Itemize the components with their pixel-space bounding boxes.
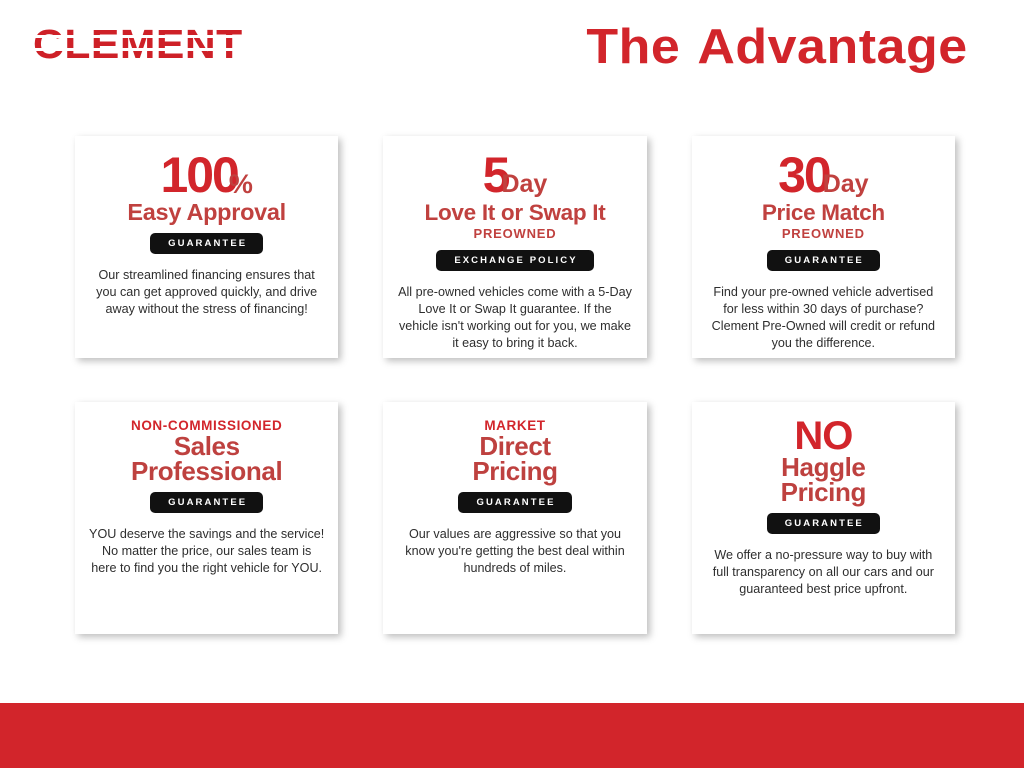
advantage-card-grid: 100 % Easy Approval GUARANTEE Our stream…	[75, 136, 955, 634]
card-body-text: YOU deserve the savings and the service!…	[89, 526, 324, 577]
page-title: TheAdvantage	[587, 17, 968, 77]
headline-line-2: Pricing	[706, 480, 941, 505]
headline-number-row: 5 Day	[397, 152, 632, 198]
card-easy-approval[interactable]: 100 % Easy Approval GUARANTEE Our stream…	[75, 136, 338, 358]
logo-slice-lower	[33, 48, 269, 51]
headline-line-2: Pricing	[397, 459, 632, 484]
card-body-text: Find your pre-owned vehicle advertised f…	[706, 284, 941, 352]
card-body-text: Our streamlined financing ensures that y…	[89, 267, 324, 318]
headline-number-row: 100 %	[89, 152, 324, 198]
headline-suffix: %	[229, 172, 253, 198]
headline-subtitle: Love It or Swap It	[397, 200, 632, 225]
headline-number-row: 30 Day	[706, 152, 941, 198]
card-headline: NO Haggle Pricing	[706, 418, 941, 505]
page-title-word-the: The	[587, 20, 681, 74]
card-row-bottom: NON-COMMISSIONED Sales Professional GUAR…	[75, 402, 955, 634]
card-love-it-or-swap-it[interactable]: 5 Day Love It or Swap It PREOWNED EXCHAN…	[383, 136, 646, 358]
headline-eyebrow-big: NO	[706, 418, 941, 455]
preowned-label: PREOWNED	[397, 226, 632, 242]
page-title-word-advantage: Advantage	[698, 20, 968, 74]
clement-logo-text: CLEMENT	[33, 24, 278, 64]
guarantee-badge: GUARANTEE	[767, 513, 880, 534]
headline-subtitle: Easy Approval	[89, 200, 324, 225]
guarantee-badge: GUARANTEE	[150, 492, 263, 513]
card-body-text: Our values are aggressive so that you kn…	[397, 526, 632, 577]
headline-suffix: Day	[501, 172, 547, 198]
page-header: CLEMENT TheAdvantage	[0, 0, 1024, 96]
headline-suffix: Day	[823, 172, 869, 198]
headline-number: 100	[160, 152, 237, 198]
guarantee-badge: GUARANTEE	[458, 492, 571, 513]
card-direct-pricing[interactable]: MARKET Direct Pricing GUARANTEE Our valu…	[383, 402, 646, 634]
card-headline: NON-COMMISSIONED Sales Professional	[89, 418, 324, 484]
card-body-text: We offer a no-pressure way to buy with f…	[706, 547, 941, 598]
card-headline: MARKET Direct Pricing	[397, 418, 632, 484]
card-row-top: 100 % Easy Approval GUARANTEE Our stream…	[75, 136, 955, 358]
card-no-haggle-pricing[interactable]: NO Haggle Pricing GUARANTEE We offer a n…	[692, 402, 955, 634]
logo-slice-upper	[33, 35, 269, 38]
clement-logo: CLEMENT	[33, 24, 269, 64]
footer-accent-bar	[0, 703, 1024, 768]
card-sales-professional[interactable]: NON-COMMISSIONED Sales Professional GUAR…	[75, 402, 338, 634]
exchange-policy-badge: EXCHANGE POLICY	[436, 250, 593, 271]
card-headline: 30 Day Price Match PREOWNED	[706, 152, 941, 242]
preowned-label: PREOWNED	[706, 226, 941, 242]
card-headline: 100 % Easy Approval	[89, 152, 324, 225]
card-headline: 5 Day Love It or Swap It PREOWNED	[397, 152, 632, 242]
card-body-text: All pre-owned vehicles come with a 5-Day…	[397, 284, 632, 352]
card-price-match[interactable]: 30 Day Price Match PREOWNED GUARANTEE Fi…	[692, 136, 955, 358]
headline-subtitle: Price Match	[706, 200, 941, 225]
headline-line-2: Professional	[89, 459, 324, 484]
guarantee-badge: GUARANTEE	[767, 250, 880, 271]
guarantee-badge: GUARANTEE	[150, 233, 263, 254]
